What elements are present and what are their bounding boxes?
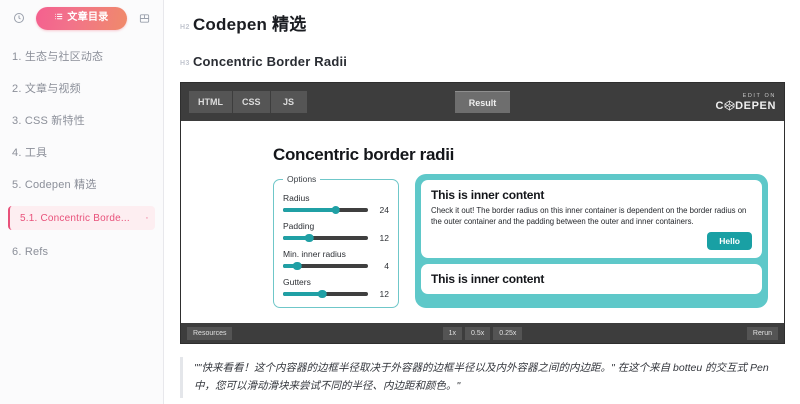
outer-container: This is inner content Check it out! The … — [415, 174, 768, 308]
tab-js[interactable]: JS — [271, 91, 307, 113]
sidebar-item-concentric-border-radii[interactable]: 5.1. Concentric Borde... · — [8, 206, 155, 230]
toc-toggle-button[interactable]: 文章目录 — [36, 7, 127, 30]
padding-slider[interactable] — [283, 234, 368, 242]
inner-card-1: This is inner content Check it out! The … — [421, 180, 762, 258]
heading-level-tag: H2 — [180, 24, 190, 31]
section-heading-h3: H3 Concentric Border Radii — [180, 54, 788, 69]
clock-icon[interactable] — [8, 7, 30, 29]
slider-group-min-inner-radius: Min. inner radius 4 — [283, 249, 389, 271]
slider-thumb[interactable] — [293, 262, 302, 271]
sidebar-item-label: 3. CSS 新特性 — [12, 112, 85, 128]
sidebar-item-4[interactable]: 5. Codepen 精选 — [0, 174, 163, 194]
page-root: 文章目录 1. 生态与社区动态 2. 文章与视频 3. CSS 新特性 4. 工… — [0, 0, 800, 404]
min-inner-radius-slider[interactable] — [283, 262, 368, 270]
blockquote: ""快来看看！这个内容器的边框半径取决于外容器的边框半径以及内外容器之间的内边距… — [180, 357, 787, 398]
zoom-0.5x-button[interactable]: 0.5x — [465, 327, 490, 340]
zoom-level-group: 1x 0.5x 0.25x — [181, 327, 784, 340]
sidebar-item-label: 5.1. Concentric Borde... — [20, 213, 130, 224]
zoom-0.25x-button[interactable]: 0.25x — [493, 327, 522, 340]
radius-slider[interactable] — [283, 206, 368, 214]
toc-label: 文章目录 — [67, 13, 108, 23]
slider-value: 4 — [375, 261, 389, 271]
slider-thumb[interactable] — [318, 290, 327, 299]
slider-group-gutters: Gutters 12 — [283, 277, 389, 299]
heading-level-tag: H3 — [180, 60, 190, 67]
sidebar-item-0[interactable]: 1. 生态与社区动态 — [0, 46, 163, 66]
slider-label: Padding — [283, 221, 389, 231]
section-heading-h2: H2 Codepen 精选 — [180, 10, 788, 35]
sidebar-header: 文章目录 — [0, 0, 163, 36]
slider-value: 12 — [375, 233, 389, 243]
result-button[interactable]: Result — [455, 91, 511, 113]
codepen-wordmark-pre: C — [716, 100, 725, 112]
sidebar-item-6[interactable]: 6. Refs — [0, 242, 163, 262]
codepen-toolbar: HTML CSS JS Result EDIT ON C — [181, 83, 784, 121]
codepen-preview-stage: Concentric border radii Options Radius — [181, 121, 784, 323]
codepen-embed: HTML CSS JS Result EDIT ON C — [180, 82, 785, 344]
slider-group-padding: Padding 12 — [283, 221, 389, 243]
page-title: Codepen 精选 — [193, 10, 306, 35]
panel-icon[interactable] — [133, 7, 155, 29]
pen-body: Options Radius 24 — [181, 165, 784, 308]
sidebar-nav: 1. 生态与社区动态 2. 文章与视频 3. CSS 新特性 4. 工具 5. … — [0, 36, 163, 404]
inner-card-body: Check it out! The border radius on this … — [431, 205, 752, 227]
sidebar-item-label: 1. 生态与社区动态 — [12, 48, 103, 64]
sidebar-item-label: 2. 文章与视频 — [12, 80, 81, 96]
sidebar-item-3[interactable]: 4. 工具 — [0, 142, 163, 162]
slider-value: 24 — [375, 205, 389, 215]
sidebar-item-label: 4. 工具 — [12, 144, 47, 160]
inner-card-heading: This is inner content — [431, 188, 752, 202]
codepen-icon — [724, 100, 735, 111]
tab-css[interactable]: CSS — [233, 91, 271, 113]
slider-label: Radius — [283, 193, 389, 203]
sidebar-item-2[interactable]: 3. CSS 新特性 — [0, 110, 163, 130]
slider-thumb[interactable] — [331, 206, 340, 215]
slider-group-radius: Radius 24 — [283, 193, 389, 215]
options-legend: Options — [283, 174, 320, 184]
slider-fill — [283, 208, 336, 213]
slider-thumb[interactable] — [305, 234, 314, 243]
slider-fill — [283, 292, 322, 297]
sidebar: 文章目录 1. 生态与社区动态 2. 文章与视频 3. CSS 新特性 4. 工… — [0, 0, 164, 404]
inner-card-heading: This is inner content — [431, 272, 752, 286]
sidebar-item-trailing-dot: · — [145, 212, 149, 224]
edit-on-codepen-link[interactable]: EDIT ON C DEPEN — [716, 93, 776, 112]
subsection-title: Concentric Border Radii — [193, 54, 347, 69]
pen-title: Concentric border radii — [273, 145, 784, 165]
slider-value: 12 — [375, 289, 389, 299]
codepen-bottom-bar: Resources 1x 0.5x 0.25x Rerun — [181, 323, 784, 343]
slider-label: Min. inner radius — [283, 249, 389, 259]
codepen-wordmark: C DEPEN — [716, 100, 776, 112]
edit-on-label: EDIT ON — [716, 93, 776, 99]
codepen-wordmark-post: DEPEN — [735, 100, 776, 112]
sidebar-item-label: 5. Codepen 精选 — [12, 176, 97, 192]
inner-card-2: This is inner content — [421, 264, 762, 294]
sidebar-item-label: 6. Refs — [12, 246, 48, 258]
slider-label: Gutters — [283, 277, 389, 287]
gutters-slider[interactable] — [283, 290, 368, 298]
hello-button[interactable]: Hello — [707, 232, 752, 250]
inner-card-actions: Hello — [431, 232, 752, 250]
blockquote-text: ""快来看看！这个内容器的边框半径取决于外容器的边框半径以及内外容器之间的内边距… — [194, 359, 787, 396]
zoom-1x-button[interactable]: 1x — [443, 327, 462, 340]
list-icon — [54, 12, 63, 24]
options-panel: Options Radius 24 — [273, 174, 399, 308]
sidebar-item-1[interactable]: 2. 文章与视频 — [0, 78, 163, 98]
codepen-tab-group: HTML CSS JS — [189, 91, 307, 113]
tab-html[interactable]: HTML — [189, 91, 233, 113]
main-content: H2 Codepen 精选 H3 Concentric Border Radii… — [164, 0, 800, 404]
